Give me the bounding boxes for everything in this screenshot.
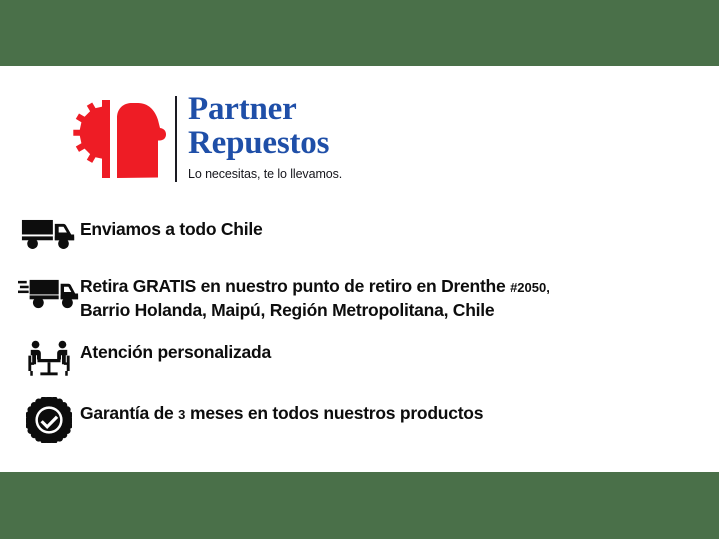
meeting-table-icon bbox=[18, 338, 80, 378]
logo-divider bbox=[175, 96, 177, 182]
guarantee-badge-check-icon bbox=[18, 399, 80, 441]
brand-tagline: Lo necesitas, te lo llevamos. bbox=[188, 167, 488, 181]
brand-name-line1: Partner bbox=[188, 92, 488, 126]
feature-support: Atención personalizada bbox=[18, 338, 708, 378]
feature-warranty-label: Garantía de 3 meses en todos nuestros pr… bbox=[80, 399, 708, 426]
top-green-band bbox=[0, 0, 719, 66]
moving-truck-icon bbox=[18, 272, 80, 312]
feature-support-label: Atención personalizada bbox=[80, 338, 708, 364]
feature-warranty-tail: meses en todos nuestros productos bbox=[185, 403, 483, 423]
gear-car-icon bbox=[62, 94, 166, 184]
feature-pickup: Retira GRATIS en nuestro punto de retiro… bbox=[18, 272, 708, 322]
feature-warranty: Garantía de 3 meses en todos nuestros pr… bbox=[18, 399, 708, 441]
promo-banner: Partner Repuestos Lo necesitas, te lo ll… bbox=[0, 0, 719, 539]
brand-wordmark: Partner Repuestos Lo necesitas, te lo ll… bbox=[188, 92, 488, 181]
bottom-green-band bbox=[0, 472, 719, 539]
feature-pickup-street-number: #2050, bbox=[510, 280, 550, 295]
feature-pickup-label: Retira GRATIS en nuestro punto de retiro… bbox=[80, 272, 708, 322]
feature-pickup-line1-lead: Retira GRATIS en nuestro punto de retiro… bbox=[80, 276, 510, 296]
feature-warranty-lead: Garantía de bbox=[80, 403, 178, 423]
feature-shipping-label: Enviamos a todo Chile bbox=[80, 215, 708, 241]
brand-logo: Partner Repuestos Lo necesitas, te lo ll… bbox=[62, 92, 482, 188]
delivery-truck-icon bbox=[18, 215, 80, 251]
feature-shipping: Enviamos a todo Chile bbox=[18, 215, 708, 251]
brand-name-line2: Repuestos bbox=[188, 126, 488, 160]
feature-pickup-line2: Barrio Holanda, Maipú, Región Metropolit… bbox=[80, 300, 494, 320]
